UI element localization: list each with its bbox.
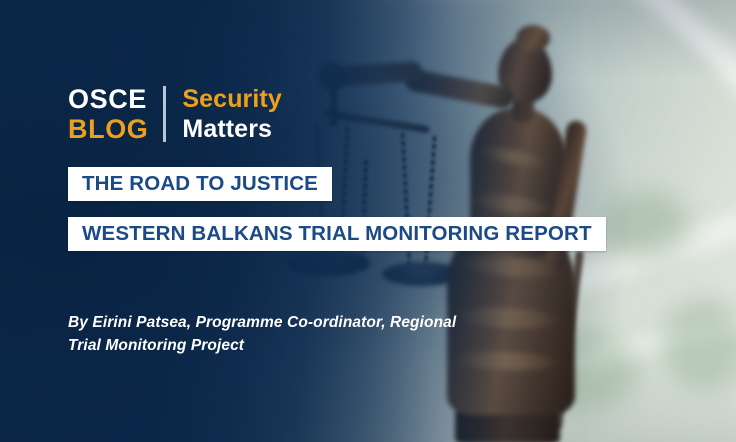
logo-matters-text: Matters <box>182 114 281 144</box>
osce-blog-banner: OSCE BLOG Security Matters THE ROAD TO J… <box>0 0 736 442</box>
logo-blog-text: BLOG <box>68 114 148 144</box>
logo-wordmark-left: OSCE BLOG <box>68 84 163 144</box>
headline-text-secondary: WESTERN BALKANS TRIAL MONITORING REPORT <box>82 222 592 246</box>
osce-blog-logo[interactable]: OSCE BLOG Security Matters <box>68 84 282 144</box>
headline-bar-primary: THE ROAD TO JUSTICE <box>68 167 332 201</box>
logo-security-text: Security <box>182 84 281 114</box>
logo-osce-text: OSCE <box>68 84 148 114</box>
author-byline: By Eirini Patsea, Programme Co-ordinator… <box>68 311 468 357</box>
logo-tagline: Security Matters <box>166 84 281 144</box>
headline-text-primary: THE ROAD TO JUSTICE <box>82 172 318 196</box>
headline-bar-secondary: WESTERN BALKANS TRIAL MONITORING REPORT <box>68 217 606 251</box>
banner-content: OSCE BLOG Security Matters THE ROAD TO J… <box>0 0 736 442</box>
